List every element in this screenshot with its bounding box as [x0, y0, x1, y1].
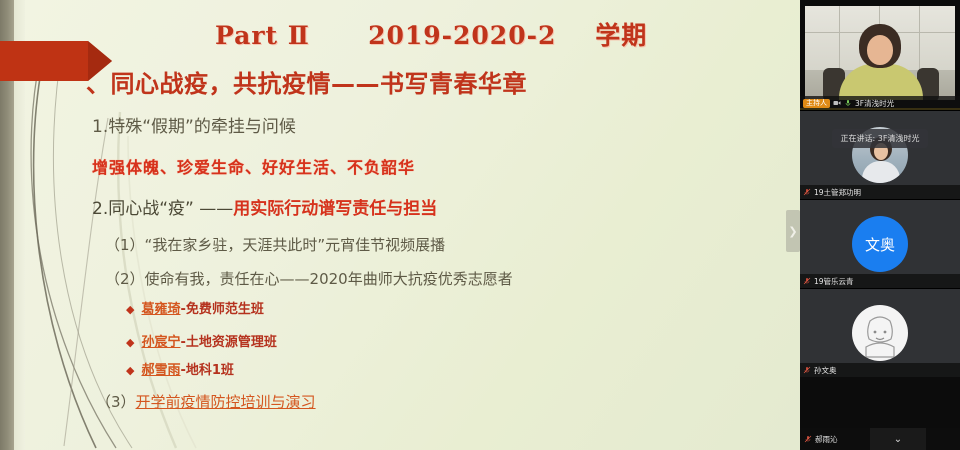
- panel-bottom-bar: 郝雨沁 ⌄: [800, 428, 960, 450]
- slide-heading: 、同心战疫，共抗疫情——书写青春华章: [86, 64, 527, 99]
- slide-line-5: （2）使命有我，责任在心——2020年曲师大抗疫优秀志愿者: [105, 268, 513, 289]
- microphone-muted-icon: [804, 435, 812, 443]
- slide-line-9-link: 开学前疫情防控培训与演习: [136, 393, 316, 411]
- chevron-down-icon: ⌄: [894, 434, 902, 445]
- diamond-bullet-icon: ◆: [126, 303, 134, 316]
- volunteer-name: 郝雪雨: [141, 363, 180, 378]
- now-speaking-label: 正在讲话: 3F清浅时光: [832, 129, 929, 148]
- slide-title: Part Ⅱ 2019-2020-2 学期: [215, 16, 647, 52]
- microphone-muted-icon: [803, 277, 811, 285]
- microphone-muted-icon: [803, 188, 811, 196]
- host-name: 3F清浅时光: [855, 98, 894, 109]
- volunteer-name: 孙宸宁: [141, 335, 180, 350]
- bottom-participant-name-bar: 郝雨沁: [800, 434, 870, 445]
- slide-line-2-slogan: 增强体魄、珍爱生命、好好生活、不负韶华: [92, 154, 415, 178]
- panel-collapse-handle[interactable]: ❯: [786, 210, 800, 252]
- avatar-illustration-icon: [852, 305, 908, 361]
- slide-bullet-3: ◆郝雪雨-地科1班: [126, 359, 234, 378]
- participant-name-bar: 19管乐云青: [800, 274, 960, 288]
- participant-name-bar: 孙文奥: [800, 363, 960, 377]
- video-camera-icon: [833, 99, 841, 107]
- microphone-muted-icon: [803, 366, 811, 374]
- participant-tile-3[interactable]: 孙文奥: [800, 289, 960, 377]
- avatar-initials: 文奥: [865, 234, 895, 255]
- volunteer-class: -免费师范生班: [180, 302, 263, 317]
- bottom-participant-name: 郝雨沁: [815, 434, 838, 445]
- slide-bullet-2: ◆孙宸宁-土地资源管理班: [126, 331, 277, 350]
- slide-line-4: （1）“我在家乡驻，天涯共此时”元宵佳节视频展播: [105, 234, 445, 255]
- slide-line-9: （3）开学前疫情防控培训与演习: [96, 391, 316, 412]
- participant-name: 19管乐云青: [814, 276, 854, 287]
- slide-line-3-red: 用实际行动谱写责任与担当: [233, 199, 437, 219]
- host-name-bar: 主持人 3F清浅时光: [800, 96, 960, 110]
- video-participants-panel: 主持人 3F清浅时光: [800, 0, 960, 450]
- volunteer-class: -地科1班: [180, 363, 233, 378]
- participant-name-bar: 19土管郑功明: [800, 185, 960, 199]
- slide-line-9-prefix: （3）: [96, 393, 136, 411]
- diamond-bullet-icon: ◆: [126, 336, 134, 349]
- now-speaking-overlay: 正在讲话: 3F清浅时光: [800, 124, 960, 152]
- participant-tile-2[interactable]: 文奥 19管乐云青: [800, 200, 960, 288]
- slide-bullet-1: ◆葛雍琦-免费师范生班: [126, 298, 264, 317]
- slide-line-3: 2.同心战“疫” ——用实际行动谱写责任与担当: [92, 194, 437, 219]
- slide-line-1: 1.特殊“假期”的牵挂与问候: [92, 112, 296, 137]
- microphone-icon: [844, 99, 852, 107]
- participant-name: 19土管郑功明: [814, 187, 861, 198]
- slide-title-term: 2019-2020-2: [368, 21, 556, 50]
- avatar: [852, 305, 908, 361]
- host-video-tile[interactable]: 主持人 3F清浅时光: [800, 0, 960, 110]
- screen: Part Ⅱ 2019-2020-2 学期 、同心战疫，共抗疫情——书写青春华章…: [0, 0, 960, 450]
- diamond-bullet-icon: ◆: [126, 364, 134, 377]
- chevron-right-icon: ❯: [788, 225, 797, 238]
- slide-title-part: Part Ⅱ: [215, 21, 310, 50]
- presentation-slide: Part Ⅱ 2019-2020-2 学期 、同心战疫，共抗疫情——书写青春华章…: [0, 0, 800, 450]
- volunteer-class: -土地资源管理班: [180, 335, 276, 350]
- slide-line-3-black: 2.同心战“疫” ——: [92, 199, 233, 219]
- host-video-feed: [805, 6, 955, 100]
- avatar: 文奥: [852, 216, 908, 272]
- volunteer-name: 葛雍琦: [141, 302, 180, 317]
- slide-title-term-cn: 学期: [595, 21, 647, 50]
- participant-name: 孙文奥: [814, 365, 837, 376]
- host-badge: 主持人: [803, 99, 830, 108]
- host-face: [867, 35, 893, 65]
- scroll-down-button[interactable]: ⌄: [870, 428, 926, 450]
